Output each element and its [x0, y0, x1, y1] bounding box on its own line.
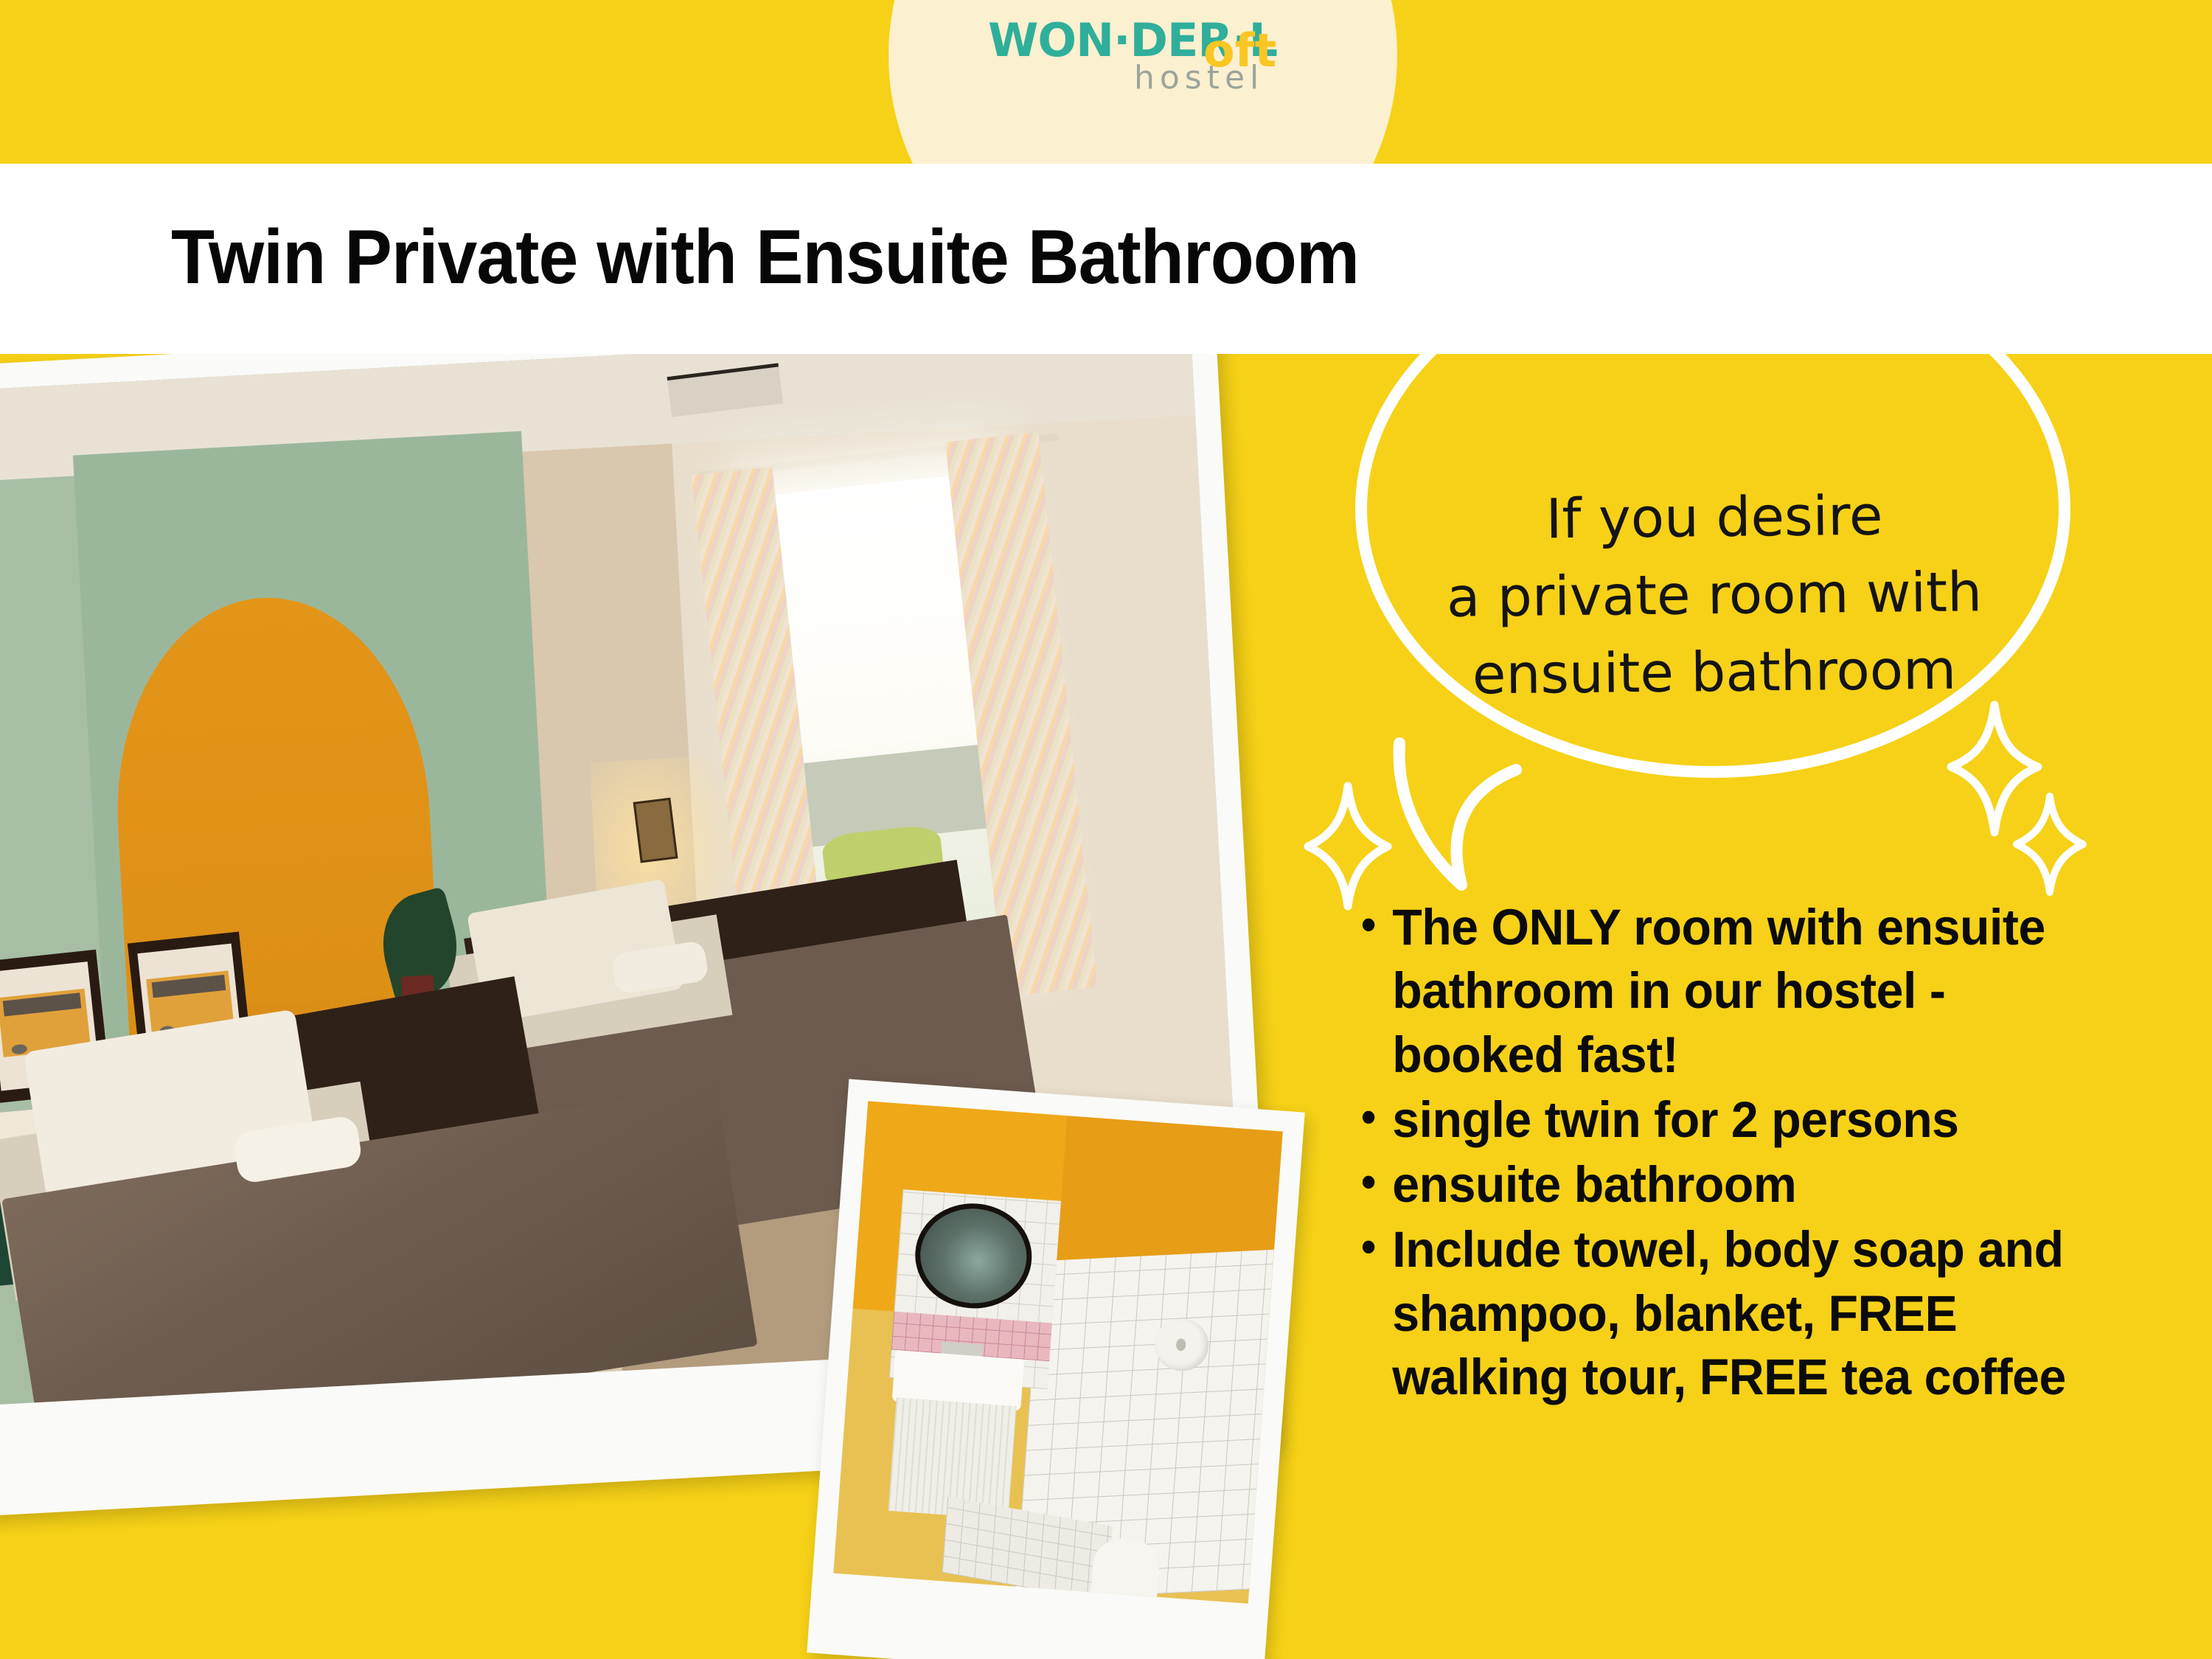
sparkle-icon: [1304, 782, 1392, 914]
list-item: Include towel, body soap and shampoo, bl…: [1361, 1218, 2112, 1409]
logo-subtitle: hostel: [1134, 59, 1264, 97]
page-header: WON·DER·L oft hostel: [0, 0, 2212, 164]
speech-bubble-text: If you desire a private room with ensuit…: [1375, 479, 2053, 712]
van-wheel: [11, 1043, 28, 1054]
page-title: Twin Private with Ensuite Bathroom: [171, 214, 1359, 302]
wall-lamp: [633, 798, 678, 863]
bubble-line-2: a private room with: [1374, 553, 2053, 638]
sparkle-icon: [2013, 793, 2087, 900]
bubble-line-3: ensuite bathroom: [1374, 630, 2053, 715]
bathroom-photo-image: [833, 1101, 1283, 1604]
list-item: ensuite bathroom: [1361, 1153, 2112, 1217]
van-window: [151, 975, 226, 998]
feature-list: The ONLY room with ensuite bathroom in o…: [1361, 896, 2143, 1411]
content-area: If you desire a private room with ensuit…: [0, 354, 2212, 1659]
dispenser-center: [1176, 1338, 1186, 1352]
list-item: single twin for 2 persons: [1361, 1088, 2112, 1152]
bathroom-photo-frame: [807, 1079, 1304, 1659]
bubble-line-1: If you desire: [1374, 476, 2053, 560]
brand-logo: WON·DER·L oft hostel: [988, 13, 1305, 124]
list-item: The ONLY room with ensuite bathroom in o…: [1361, 896, 2112, 1087]
speech-bubble-tail: [1391, 737, 1560, 896]
van-window: [3, 992, 81, 1016]
title-band: Twin Private with Ensuite Bathroom: [0, 164, 2212, 354]
